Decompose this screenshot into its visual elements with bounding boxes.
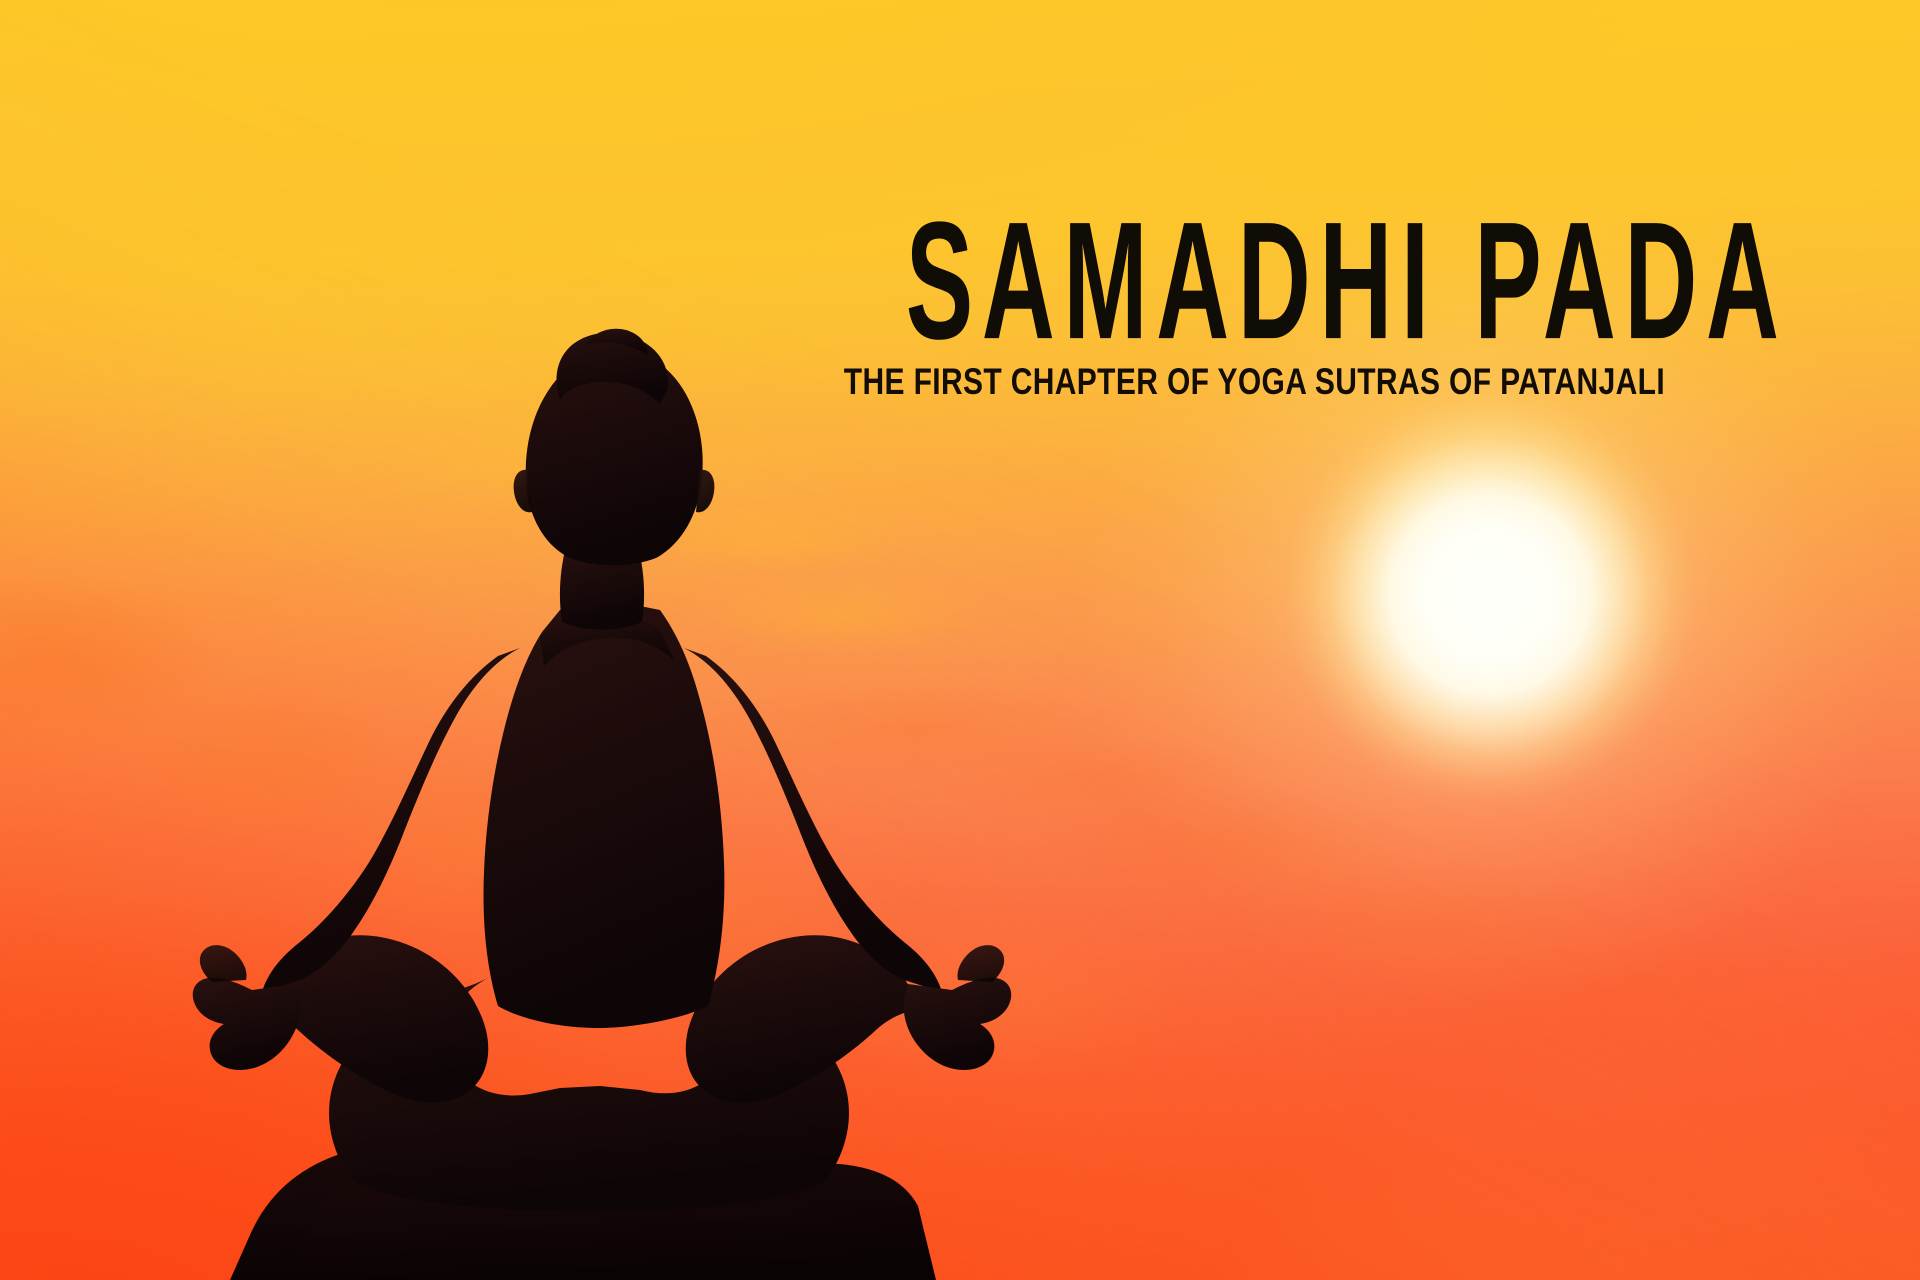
figure-body bbox=[193, 329, 1011, 1210]
headline-block: SAMADHI PADA THE FIRST CHAPTER OF YOGA S… bbox=[752, 222, 1670, 400]
poster-canvas: SAMADHI PADA THE FIRST CHAPTER OF YOGA S… bbox=[0, 0, 1920, 1280]
poster-subtitle: THE FIRST CHAPTER OF YOGA SUTRAS OF PATA… bbox=[844, 363, 1578, 401]
poster-title: SAMADHI PADA bbox=[906, 216, 1516, 346]
